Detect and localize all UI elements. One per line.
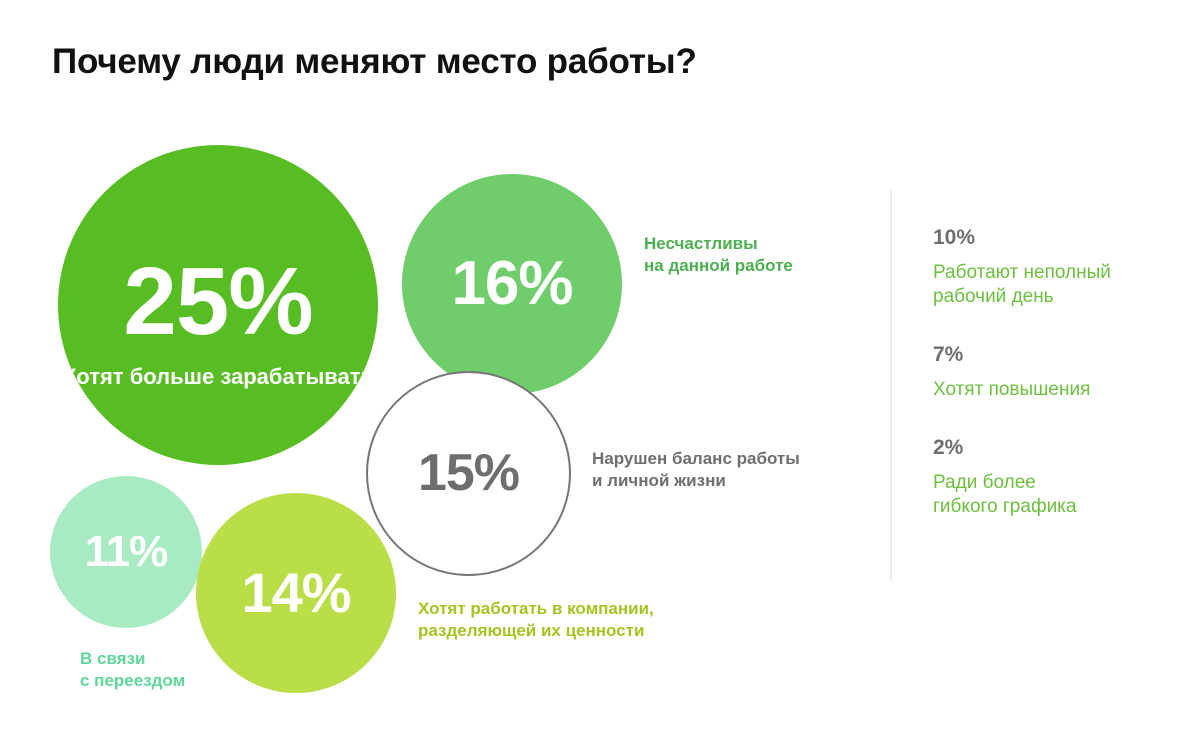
bubble-15-percent: 15% (366, 371, 571, 576)
infographic-canvas: Почему люди меняют место работы? 25% Хот… (0, 0, 1200, 731)
bubble-25-percent: 25% Хотят больше зарабатывать (58, 145, 378, 465)
side-item-0-value: 10% (933, 226, 1173, 249)
list-item: 10% Работают неполный рабочий день (933, 226, 1173, 309)
secondary-stats-list: 10% Работают неполный рабочий день 7% Хо… (933, 226, 1173, 519)
bubble-14-percent: 14% (196, 493, 396, 693)
bubble-16-caption: Несчастливы на данной работе (644, 233, 793, 277)
bubble-25-value: 25% (123, 256, 312, 347)
list-item: 2% Ради более гибкого графика (933, 436, 1173, 519)
bubble-14-caption: Хотят работать в компании, разделяющей и… (418, 598, 654, 642)
bubble-16-percent: 16% (402, 174, 622, 394)
list-item: 7% Хотят повышения (933, 343, 1173, 402)
bubble-11-percent: 11% (50, 476, 202, 628)
side-item-2-label: Ради более гибкого графика (933, 471, 1173, 519)
side-item-1-value: 7% (933, 343, 1173, 366)
bubble-15-caption: Нарушен баланс работы и личной жизни (592, 448, 800, 492)
bubble-16-value: 16% (451, 255, 572, 314)
bubble-15-value: 15% (418, 449, 519, 498)
side-item-0-label: Работают неполный рабочий день (933, 261, 1173, 309)
side-item-1-label: Хотят повышения (933, 378, 1173, 402)
bubble-11-caption: В связи с переездом (80, 648, 185, 692)
side-item-2-value: 2% (933, 436, 1173, 459)
page-title: Почему люди меняют место работы? (52, 42, 697, 82)
bubble-25-label: Хотят больше зарабатывать (62, 364, 374, 390)
vertical-divider (890, 190, 892, 580)
bubble-14-value: 14% (241, 566, 350, 619)
bubble-11-value: 11% (85, 531, 168, 573)
